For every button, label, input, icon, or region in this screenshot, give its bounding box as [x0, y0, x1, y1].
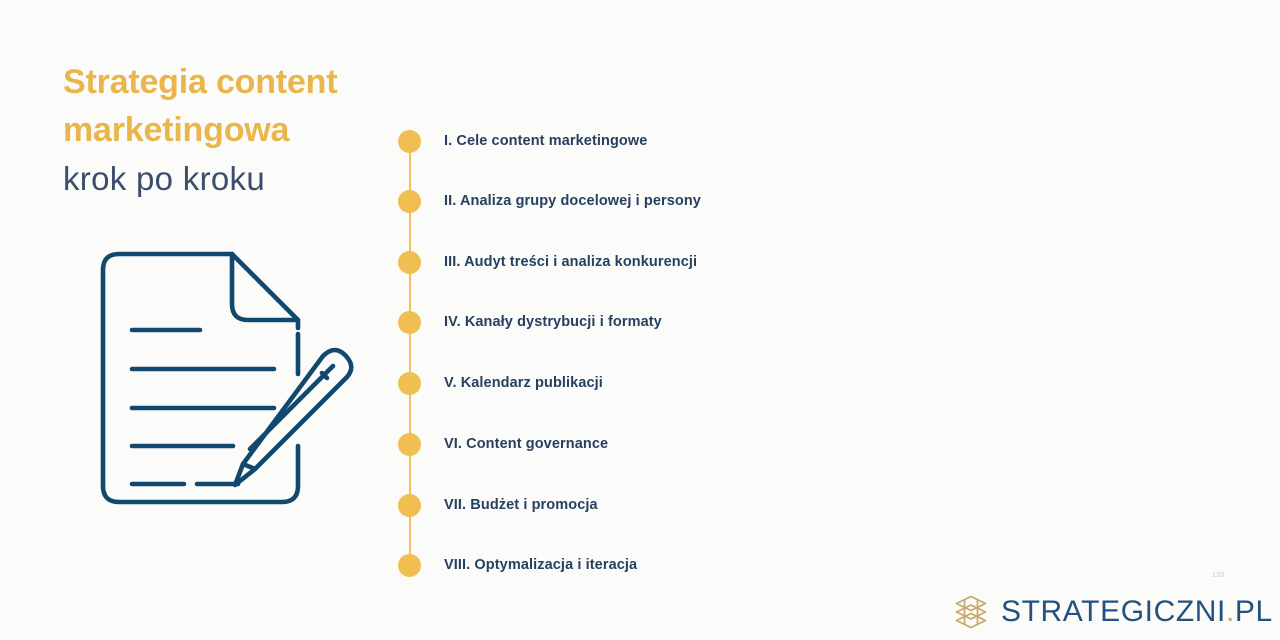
timeline-dot-icon — [398, 372, 421, 395]
timeline-dot-icon — [398, 190, 421, 213]
timeline-item-label: VI. Content governance — [444, 436, 608, 452]
timeline-item-7[interactable]: VII. Budżet i promocja — [398, 492, 598, 518]
timeline-item-label: II. Analiza grupy docelowej i persony — [444, 193, 701, 209]
brand-logo-text: STRATEGICZNI.PL — [1001, 597, 1273, 627]
timeline-item-8[interactable]: VIII. Optymalizacja i iteracja — [398, 552, 637, 578]
timeline-item-2[interactable]: II. Analiza grupy docelowej i persony — [398, 188, 701, 214]
timeline-list: I. Cele content marketingowe II. Analiza… — [398, 128, 958, 588]
page-title: Strategia content marketingowa krok po k… — [63, 58, 393, 204]
timeline-item-label: VII. Budżet i promocja — [444, 497, 598, 513]
timeline-item-3[interactable]: III. Audyt treści i analiza konkurencji — [398, 249, 697, 275]
document-pencil-illustration — [88, 238, 368, 518]
timeline-item-label: III. Audyt treści i analiza konkurencji — [444, 254, 697, 270]
timeline-dot-icon — [398, 433, 421, 456]
timeline-item-5[interactable]: V. Kalendarz publikacji — [398, 370, 603, 396]
timeline-dot-icon — [398, 494, 421, 517]
title-line-1: Strategia content — [63, 58, 393, 106]
timeline-item-label: VIII. Optymalizacja i iteracja — [444, 557, 637, 573]
timeline-dot-icon — [398, 311, 421, 334]
timeline-dot-icon — [398, 554, 421, 577]
timeline-item-4[interactable]: IV. Kanały dystrybucji i formaty — [398, 309, 662, 335]
timeline-dot-icon — [398, 130, 421, 153]
timeline-item-label: I. Cele content marketingowe — [444, 133, 647, 149]
timeline-item-6[interactable]: VI. Content governance — [398, 431, 608, 457]
stacked-s-logo-icon — [951, 592, 991, 632]
timeline-item-1[interactable]: I. Cele content marketingowe — [398, 128, 647, 154]
brand-logo[interactable]: STRATEGICZNI.PL — [951, 592, 1273, 632]
title-subtitle: krok po kroku — [63, 154, 393, 204]
timeline-item-label: V. Kalendarz publikacji — [444, 375, 603, 391]
brand-separator: . — [1226, 595, 1235, 628]
brand-name: STRATEGICZNI — [1001, 595, 1226, 628]
page-number: 133 — [1212, 572, 1225, 579]
document-icon — [88, 238, 368, 518]
slide-canvas: Strategia content marketingowa krok po k… — [0, 0, 1280, 640]
timeline-item-label: IV. Kanały dystrybucji i formaty — [444, 314, 662, 330]
timeline-dot-icon — [398, 251, 421, 274]
brand-suffix: PL — [1235, 595, 1273, 628]
title-line-2: marketingowa — [63, 106, 393, 154]
